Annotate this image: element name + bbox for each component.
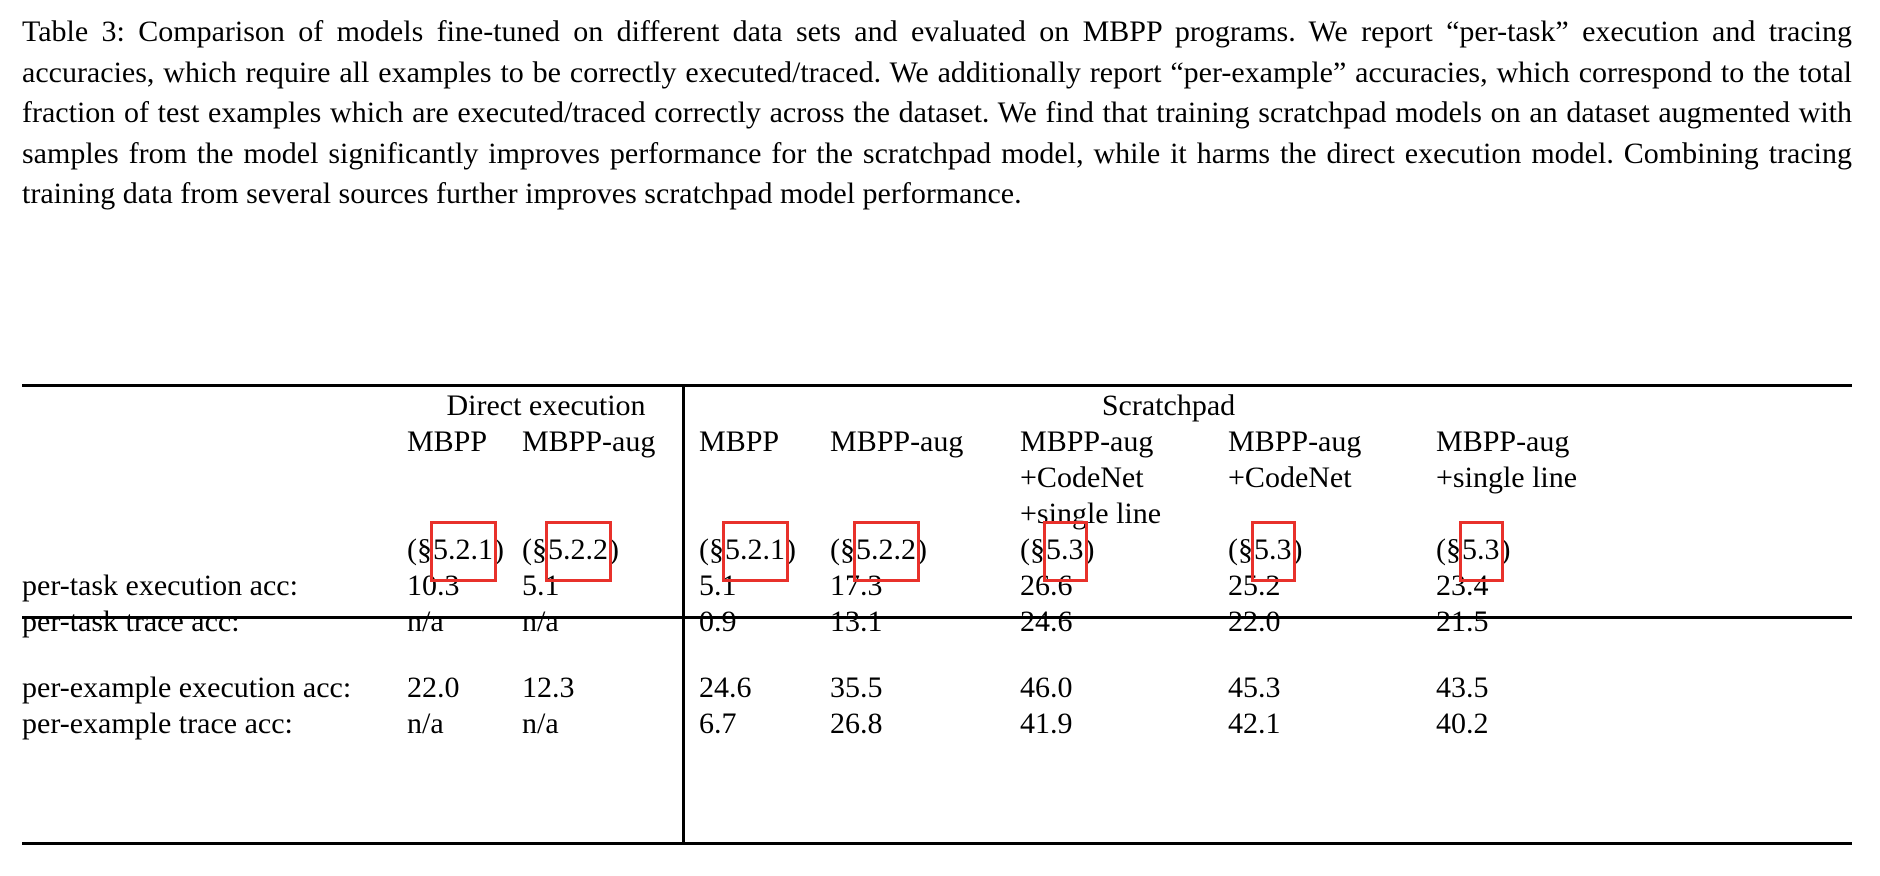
row-label-per-example-execution-acc: per-example execution acc: [22, 670, 407, 706]
column-header-sp-codenet-singleline-line1: MBPP-aug [1020, 425, 1153, 458]
cell-r1-c1: n/a [522, 604, 685, 640]
section-reference-de-mbpp: (§5.2.1) [407, 532, 522, 568]
cell-r2-c2: 24.6 [685, 670, 830, 706]
table-top-rule [22, 384, 1852, 387]
column-header-sp-codenet-singleline-line3: +single line [1020, 496, 1228, 532]
section-reference-sp-singleline-suffix: ) [1501, 533, 1511, 566]
section-reference-sp-singleline-prefix: (§ [1436, 533, 1461, 566]
section-reference-sp-mbpp-suffix: ) [786, 533, 796, 566]
section-reference-de-mbpp-aug-prefix: (§ [522, 533, 547, 566]
table-caption: Table 3: Comparison of models fine-tuned… [22, 12, 1852, 215]
section-reference-sp-codenet: (§5.3) [1228, 532, 1436, 568]
section-reference-sp-codenet-singleline-highlight: 5.3 [1045, 532, 1085, 568]
column-header-de-mbpp: MBPP [407, 424, 522, 532]
section-reference-sp-codenet-suffix: ) [1293, 533, 1303, 566]
section-reference-de-mbpp-highlight: 5.2.1 [432, 532, 494, 568]
table-row-spacer [22, 640, 1852, 670]
cell-r3-c0: n/a [407, 706, 522, 742]
cell-r1-c4: 24.6 [1020, 604, 1228, 640]
column-header-sp-codenet-line1: MBPP-aug [1228, 425, 1361, 458]
section-reference-de-mbpp-aug: (§5.2.2) [522, 532, 685, 568]
column-header-sp-singleline-line2: +single line [1436, 460, 1652, 496]
table-bottom-rule [22, 842, 1852, 845]
section-reference-sp-codenet-singleline: (§5.3) [1020, 532, 1228, 568]
caption-line-4: fraction of test examples which are exec… [22, 96, 1250, 129]
section-reference-row: (§5.2.1) (§5.2.2) (§5.2.1) (§5.2.2) (§5.… [22, 532, 1852, 568]
section-reference-sp-mbpp-aug-prefix: (§ [830, 533, 855, 566]
cell-r0-pad [1652, 568, 1852, 604]
section-reference-sp-codenet-singleline-prefix: (§ [1020, 533, 1045, 566]
table-row: per-task execution acc: 10.3 5.1 5.1 17.… [22, 568, 1852, 604]
column-header-sp-singleline: MBPP-aug +single line [1436, 424, 1652, 532]
caption-line-3: executed/traced. We additionally report … [685, 56, 1852, 89]
section-reference-pad [1652, 532, 1852, 568]
section-reference-sp-mbpp-prefix: (§ [699, 533, 724, 566]
column-header-sp-mbpp: MBPP [685, 424, 830, 532]
section-reference-sp-mbpp: (§5.2.1) [685, 532, 830, 568]
group-header-row: Direct execution Scratchpad [22, 384, 1852, 424]
section-reference-sp-singleline-highlight: 5.3 [1461, 532, 1501, 568]
caption-line-1: Table 3: Comparison of models fine-tuned… [22, 15, 1296, 48]
cell-r1-c6: 21.5 [1436, 604, 1652, 640]
group-header-pad [1652, 384, 1852, 424]
column-header-row: MBPP MBPP-aug MBPP MBPP-aug MBPP-aug +Co… [22, 424, 1852, 532]
cell-r3-c5: 42.1 [1228, 706, 1436, 742]
cell-r3-c2: 6.7 [685, 706, 830, 742]
cell-r3-c3: 26.8 [830, 706, 1020, 742]
group-header-blank [22, 384, 407, 424]
section-reference-sp-mbpp-aug-suffix: ) [917, 533, 927, 566]
table-grid: Direct execution Scratchpad MBPP MBPP-au… [22, 384, 1852, 742]
row-label-per-task-trace-acc: per-task trace acc: [22, 604, 407, 640]
cell-r0-c3: 17.3 [830, 568, 1020, 604]
group-header-scratchpad: Scratchpad [685, 384, 1652, 424]
caption-line-7: training data from several sources furth… [22, 177, 1022, 210]
cell-r2-c4: 46.0 [1020, 670, 1228, 706]
table-row-spacer-cell [22, 640, 1852, 670]
section-reference-sp-mbpp-highlight: 5.2.1 [724, 532, 786, 568]
cell-r0-c0: 10.3 [407, 568, 522, 604]
cell-r2-c6: 43.5 [1436, 670, 1652, 706]
row-label-per-example-trace-acc: per-example trace acc: [22, 706, 407, 742]
cell-r0-c1: 5.1 [522, 568, 685, 604]
table-row: per-example execution acc: 22.0 12.3 24.… [22, 670, 1852, 706]
section-reference-de-mbpp-aug-highlight: 5.2.2 [547, 532, 609, 568]
cell-r2-c5: 45.3 [1228, 670, 1436, 706]
column-header-blank [22, 424, 407, 532]
section-reference-sp-singleline: (§5.3) [1436, 532, 1652, 568]
cell-r1-pad [1652, 604, 1852, 640]
section-reference-de-mbpp-aug-suffix: ) [609, 533, 619, 566]
cell-r2-pad [1652, 670, 1852, 706]
column-header-sp-codenet: MBPP-aug +CodeNet [1228, 424, 1436, 532]
table-header-rule [22, 616, 1852, 619]
column-header-sp-singleline-line1: MBPP-aug [1436, 425, 1569, 458]
cell-r3-c6: 40.2 [1436, 706, 1652, 742]
column-header-sp-codenet-line2: +CodeNet [1228, 460, 1436, 496]
cell-r1-c3: 13.1 [830, 604, 1020, 640]
column-header-sp-codenet-singleline: MBPP-aug +CodeNet +single line [1020, 424, 1228, 532]
section-reference-de-mbpp-prefix: (§ [407, 533, 432, 566]
section-reference-blank [22, 532, 407, 568]
row-label-per-task-execution-acc: per-task execution acc: [22, 568, 407, 604]
column-header-de-mbpp-aug: MBPP-aug [522, 424, 685, 532]
cell-r0-c5: 25.2 [1228, 568, 1436, 604]
column-header-sp-mbpp-line1: MBPP [699, 425, 779, 458]
column-header-pad [1652, 424, 1852, 532]
section-reference-sp-codenet-prefix: (§ [1228, 533, 1253, 566]
section-reference-sp-mbpp-aug: (§5.2.2) [830, 532, 1020, 568]
column-header-de-mbpp-line1: MBPP [407, 425, 487, 458]
group-header-direct-execution: Direct execution [407, 384, 685, 424]
cell-r2-c3: 35.5 [830, 670, 1020, 706]
section-reference-sp-mbpp-aug-highlight: 5.2.2 [855, 532, 917, 568]
cell-r3-c1: n/a [522, 706, 685, 742]
table-row: per-example trace acc: n/a n/a 6.7 26.8 … [22, 706, 1852, 742]
cell-r3-c4: 41.9 [1020, 706, 1228, 742]
cell-r0-c4: 26.6 [1020, 568, 1228, 604]
column-header-sp-codenet-singleline-line2: +CodeNet [1020, 460, 1228, 496]
section-reference-sp-codenet-highlight: 5.3 [1253, 532, 1293, 568]
cell-r0-c2: 5.1 [685, 568, 830, 604]
caption-line-6: performance for the scratchpad model, wh… [610, 137, 1852, 170]
table-row: per-task trace acc: n/a n/a 0.9 13.1 24.… [22, 604, 1852, 640]
cell-r2-c0: 22.0 [407, 670, 522, 706]
section-reference-sp-codenet-singleline-suffix: ) [1085, 533, 1095, 566]
cell-r0-c6: 23.4 [1436, 568, 1652, 604]
page-root: Table 3: Comparison of models fine-tuned… [0, 0, 1880, 876]
column-header-sp-mbpp-aug: MBPP-aug [830, 424, 1020, 532]
column-header-sp-mbpp-aug-line1: MBPP-aug [830, 425, 963, 458]
table-group-divider [682, 387, 685, 842]
cell-r1-c0: n/a [407, 604, 522, 640]
results-table: Direct execution Scratchpad MBPP MBPP-au… [22, 384, 1852, 742]
cell-r1-c5: 22.0 [1228, 604, 1436, 640]
cell-r2-c1: 12.3 [522, 670, 685, 706]
column-header-de-mbpp-aug-line1: MBPP-aug [522, 425, 655, 458]
section-reference-de-mbpp-suffix: ) [494, 533, 504, 566]
cell-r1-c2: 0.9 [685, 604, 830, 640]
cell-r3-pad [1652, 706, 1852, 742]
